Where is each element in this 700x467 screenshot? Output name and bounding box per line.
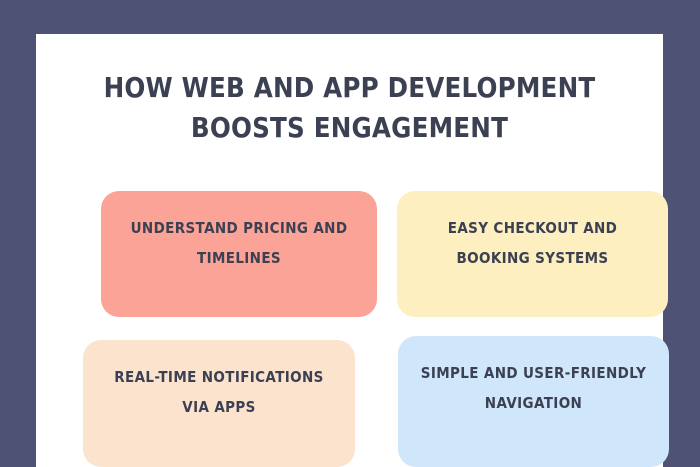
content-panel: HOW WEB AND APP DEVELOPMENT BOOSTS ENGAG… <box>36 34 663 467</box>
page-title-line-2: BOOSTS ENGAGEMENT <box>74 108 626 148</box>
infographic-canvas: HOW WEB AND APP DEVELOPMENT BOOSTS ENGAG… <box>0 0 700 467</box>
benefit-card-real-time-notifications: REAL-TIME NOTIFICATIONS VIA APPS <box>83 340 355 467</box>
benefit-card-understand-pricing: UNDERSTAND PRICING AND TIMELINES <box>101 191 377 317</box>
benefit-card-simple-navigation: SIMPLE AND USER-FRIENDLY NAVIGATION <box>398 336 669 467</box>
benefit-card-label: SIMPLE AND USER-FRIENDLY NAVIGATION <box>421 358 647 418</box>
page-title-line-1: HOW WEB AND APP DEVELOPMENT <box>74 68 626 108</box>
page-title: HOW WEB AND APP DEVELOPMENT BOOSTS ENGAG… <box>74 68 626 148</box>
benefit-card-label: REAL-TIME NOTIFICATIONS VIA APPS <box>106 362 333 422</box>
benefit-card-easy-checkout: EASY CHECKOUT AND BOOKING SYSTEMS <box>397 191 668 317</box>
benefit-card-label: UNDERSTAND PRICING AND TIMELINES <box>124 213 354 273</box>
benefit-card-label: EASY CHECKOUT AND BOOKING SYSTEMS <box>420 213 646 273</box>
